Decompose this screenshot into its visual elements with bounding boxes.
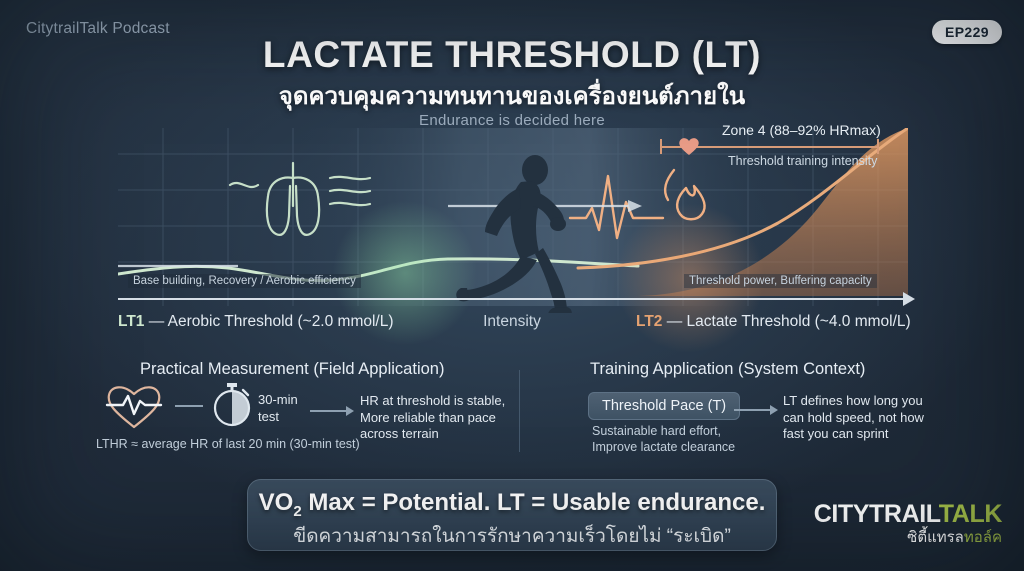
zone4-subtitle: Threshold training intensity bbox=[728, 154, 877, 168]
lactate-threshold-chart: Base building, Recovery / Aerobic effici… bbox=[0, 128, 1024, 313]
zone-label-left: Base building, Recovery / Aerobic effici… bbox=[128, 274, 361, 288]
right-note-line2: Improve lactate clearance bbox=[592, 440, 735, 456]
banner-line1: VO2 Max = Potential. LT = Usable enduran… bbox=[248, 489, 776, 520]
logo-thai-b: ทอล์ค bbox=[964, 529, 1002, 546]
left-result-text: HR at threshold is stable, More reliable… bbox=[360, 393, 535, 443]
right-result-line1: LT defines how long you bbox=[783, 393, 963, 410]
heart-icon bbox=[678, 136, 700, 161]
banner-sub: 2 bbox=[293, 503, 301, 520]
right-result-text: LT defines how long you can hold speed, … bbox=[783, 393, 963, 443]
logo-thai-a: ซิตี้แทรล bbox=[907, 529, 964, 546]
zone-label-right: Threshold power, Buffering capacity bbox=[684, 274, 877, 288]
axis-arrow-icon bbox=[903, 292, 915, 306]
page-title: LACTATE THRESHOLD (LT) bbox=[0, 34, 1024, 76]
test-label-line2: test bbox=[258, 409, 298, 426]
left-arrow-line bbox=[310, 410, 346, 412]
heart-ecg-icon bbox=[103, 381, 165, 436]
test-label-line1: 30-min bbox=[258, 392, 298, 409]
runner-silhouette-icon bbox=[455, 148, 605, 313]
right-result-line3: fast you can sprint bbox=[783, 426, 963, 443]
stopwatch-icon bbox=[209, 378, 255, 435]
right-note-line1: Sustainable hard effort, bbox=[592, 424, 735, 440]
left-result-line2: More reliable than pace bbox=[360, 410, 535, 427]
left-result-line3: across terrain bbox=[360, 426, 535, 443]
right-arrow-head-icon bbox=[770, 405, 778, 415]
right-panel-title: Training Application (System Context) bbox=[590, 360, 865, 379]
right-result-line2: can hold speed, not how bbox=[783, 410, 963, 427]
summary-banner: VO2 Max = Potential. LT = Usable enduran… bbox=[247, 479, 777, 551]
right-arrow-line bbox=[734, 409, 770, 411]
lthr-caption: LTHR ≈ average HR of last 20 min (30-min… bbox=[96, 437, 360, 453]
infographic-canvas: CitytrailTalk Podcast EP229 LACTATE THRE… bbox=[0, 0, 1024, 571]
test-label: 30-min test bbox=[258, 392, 298, 425]
threshold-pace-pill: Threshold Pace (T) bbox=[588, 392, 740, 420]
intensity-axis-label: Intensity bbox=[0, 313, 1024, 331]
logo-word-talk: TALK bbox=[939, 500, 1002, 528]
left-arrow-head-icon bbox=[346, 406, 354, 416]
zone4-title: Zone 4 (88–92% HRmax) bbox=[722, 122, 881, 138]
zone4-cap-right bbox=[877, 139, 879, 154]
logo: CITYTRAILTALK ซิตี้แทรลทอล์ค bbox=[814, 500, 1002, 549]
page-subtitle-thai: จุดควบคุมความทนทานของเครื่องยนต์ภายใน bbox=[0, 76, 1024, 115]
logo-word-citytrail: CITYTRAIL bbox=[814, 500, 939, 528]
left-panel-title: Practical Measurement (Field Application… bbox=[140, 360, 444, 379]
icon-connector bbox=[175, 405, 203, 407]
banner-rest: Max = Potential. LT = Usable endurance. bbox=[302, 489, 766, 516]
banner-vo: VO bbox=[259, 489, 294, 516]
right-note-text: Sustainable hard effort, Improve lactate… bbox=[592, 424, 735, 455]
intensity-axis bbox=[118, 298, 908, 300]
banner-line2-thai: ขีดความสามารถในการรักษาความเร็วโดยไม่ “ร… bbox=[248, 521, 776, 551]
left-result-line1: HR at threshold is stable, bbox=[360, 393, 535, 410]
